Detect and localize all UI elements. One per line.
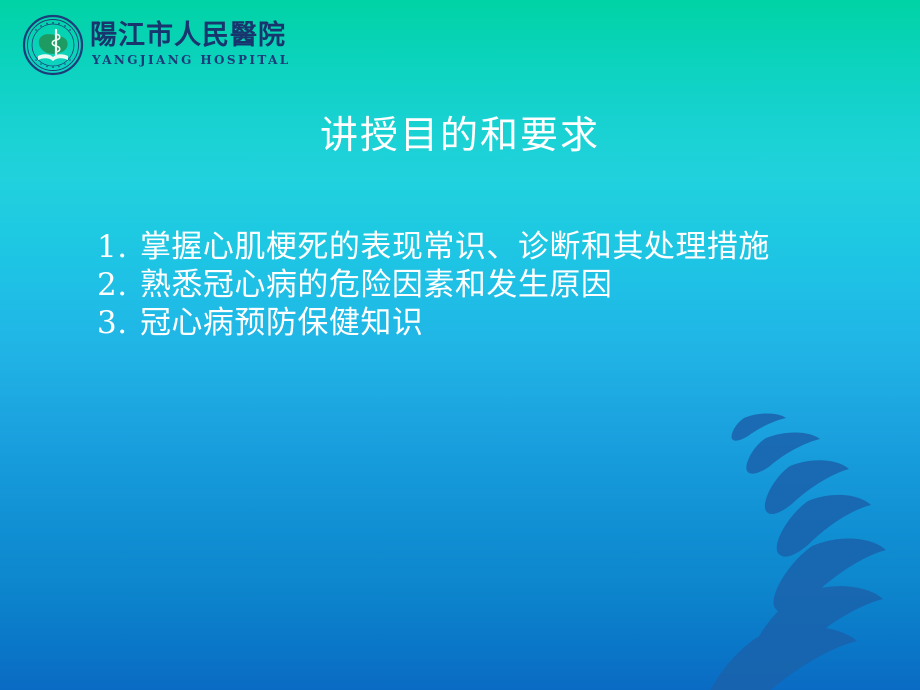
- list-item: 3. 冠心病预防保健知识: [97, 304, 880, 342]
- logo-name-en: YANGJIANG HOSPITAL: [90, 54, 291, 66]
- hospital-logo: 陽江市人民醫院 YANGJIANG HOSPITAL: [22, 14, 291, 76]
- hospital-emblem-icon: [22, 14, 84, 76]
- list-item-number: 1.: [97, 229, 130, 265]
- swoosh-crescents-decoration: [660, 400, 920, 690]
- list-item: 2. 熟悉冠心病的危险因素和发生原因: [97, 266, 880, 304]
- list-item-text: 冠心病预防保健知识: [140, 305, 424, 341]
- list-item-number: 2.: [97, 267, 130, 303]
- slide-title: 讲授目的和要求: [0, 113, 920, 159]
- list-item-text: 熟悉冠心病的危险因素和发生原因: [140, 267, 613, 303]
- list-item-number: 3.: [97, 305, 130, 341]
- presentation-slide: 陽江市人民醫院 YANGJIANG HOSPITAL 讲授目的和要求 1. 掌握…: [0, 0, 920, 690]
- logo-wordmark: 陽江市人民醫院 YANGJIANG HOSPITAL: [90, 22, 291, 67]
- logo-name-cn: 陽江市人民醫院: [90, 22, 291, 50]
- objectives-list: 1. 掌握心肌梗死的表现常识、诊断和其处理措施 2. 熟悉冠心病的危险因素和发生…: [97, 228, 880, 342]
- swoosh-icon: [660, 400, 920, 690]
- list-item: 1. 掌握心肌梗死的表现常识、诊断和其处理措施: [97, 228, 880, 266]
- list-item-text: 掌握心肌梗死的表现常识、诊断和其处理措施: [140, 229, 770, 265]
